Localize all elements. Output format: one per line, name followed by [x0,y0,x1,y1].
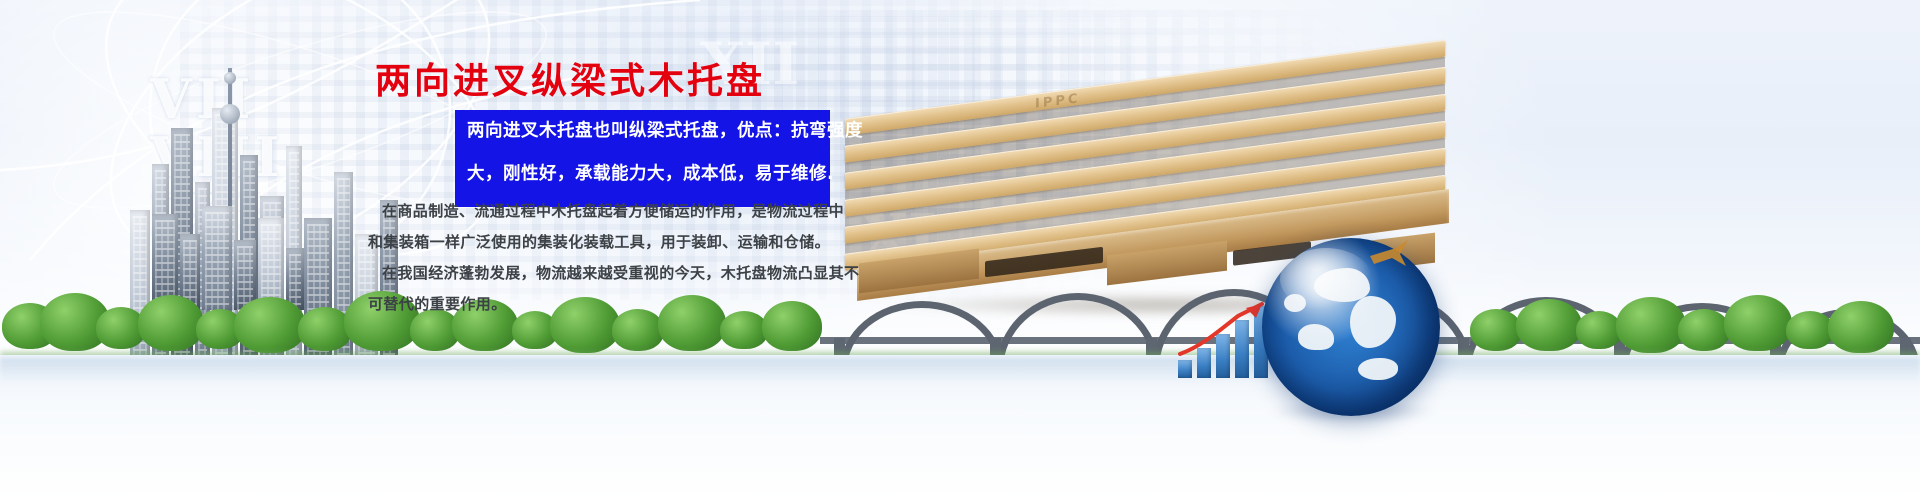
body-line-2: 和集装箱一样广泛使用的集装化装载工具，用于装卸、运输和仓储。 [368,227,838,258]
globe-landmass-oceania [1350,296,1396,348]
body-line-4: 可替代的重要作用。 [368,289,838,320]
water-surface-line [0,358,1920,384]
body-paragraph: 在商品制造、流通过程中木托盘起着方便储运的作用，是物流过程中 和集装箱一样广泛使… [368,196,838,320]
globe-landmass-australia [1358,358,1398,380]
globe-illustration [1262,238,1440,416]
body-line-1: 在商品制造、流通过程中木托盘起着方便储运的作用，是物流过程中 [368,196,838,227]
highlight-callout-box: 两向进叉木托盘也叫纵梁式托盘，优点：抗弯强度 大，刚性好，承载能力大，成本低，易… [455,110,830,207]
globe-landmass-india [1298,324,1334,350]
body-line-3: 在我国经济蓬勃发展，物流越来越受重视的今天，木托盘物流凸显其不 [368,258,838,289]
page-title: 两向进叉纵梁式木托盘 [375,52,765,104]
chart-bar-1 [1178,360,1192,378]
promo-banner: VII VIII IX XI XII [0,0,1920,500]
highlight-line-1: 两向进叉木托盘也叫纵梁式托盘，优点：抗弯强度 [455,110,830,153]
airplane-icon [1366,236,1412,272]
tv-tower-sphere-small [224,72,236,84]
tv-tower-sphere [220,104,240,124]
tree-line-strip [0,283,1920,361]
globe-highlight [1280,248,1372,310]
highlight-line-2: 大，刚性好，承载能力大，成本低，易于维修. [455,153,830,196]
